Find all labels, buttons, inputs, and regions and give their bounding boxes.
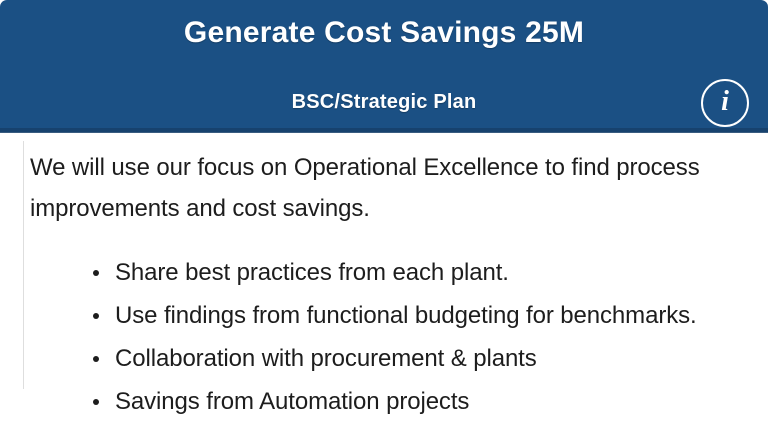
list-item-label: Collaboration with procurement & plants [115, 345, 537, 372]
bullet-list: Share best practices from each plant. Us… [93, 251, 697, 423]
objective-card: Generate Cost Savings 25M BSC/Strategic … [0, 0, 768, 448]
list-item: Collaboration with procurement & plants [93, 337, 697, 380]
intro-paragraph: We will use our focus on Operational Exc… [30, 147, 730, 229]
page-title: Generate Cost Savings 25M [0, 16, 768, 50]
scan-artifact-line [23, 141, 24, 389]
bullet-dot-icon [93, 313, 99, 319]
card-body: We will use our focus on Operational Exc… [0, 133, 768, 448]
info-icon-glyph: i [721, 88, 729, 116]
list-item: Savings from Automation projects [93, 380, 697, 423]
list-item-label: Use findings from functional budgeting f… [115, 302, 697, 329]
list-item: Share best practices from each plant. [93, 251, 697, 294]
bullet-dot-icon [93, 270, 99, 276]
list-item-label: Savings from Automation projects [115, 388, 469, 415]
list-item-label: Share best practices from each plant. [115, 259, 509, 286]
header-subtitle: BSC/Strategic Plan [0, 91, 768, 114]
list-item: Use findings from functional budgeting f… [93, 294, 697, 337]
bullet-dot-icon [93, 399, 99, 405]
bullet-dot-icon [93, 356, 99, 362]
card-header: Generate Cost Savings 25M BSC/Strategic … [0, 0, 768, 132]
info-icon[interactable]: i [701, 79, 749, 127]
